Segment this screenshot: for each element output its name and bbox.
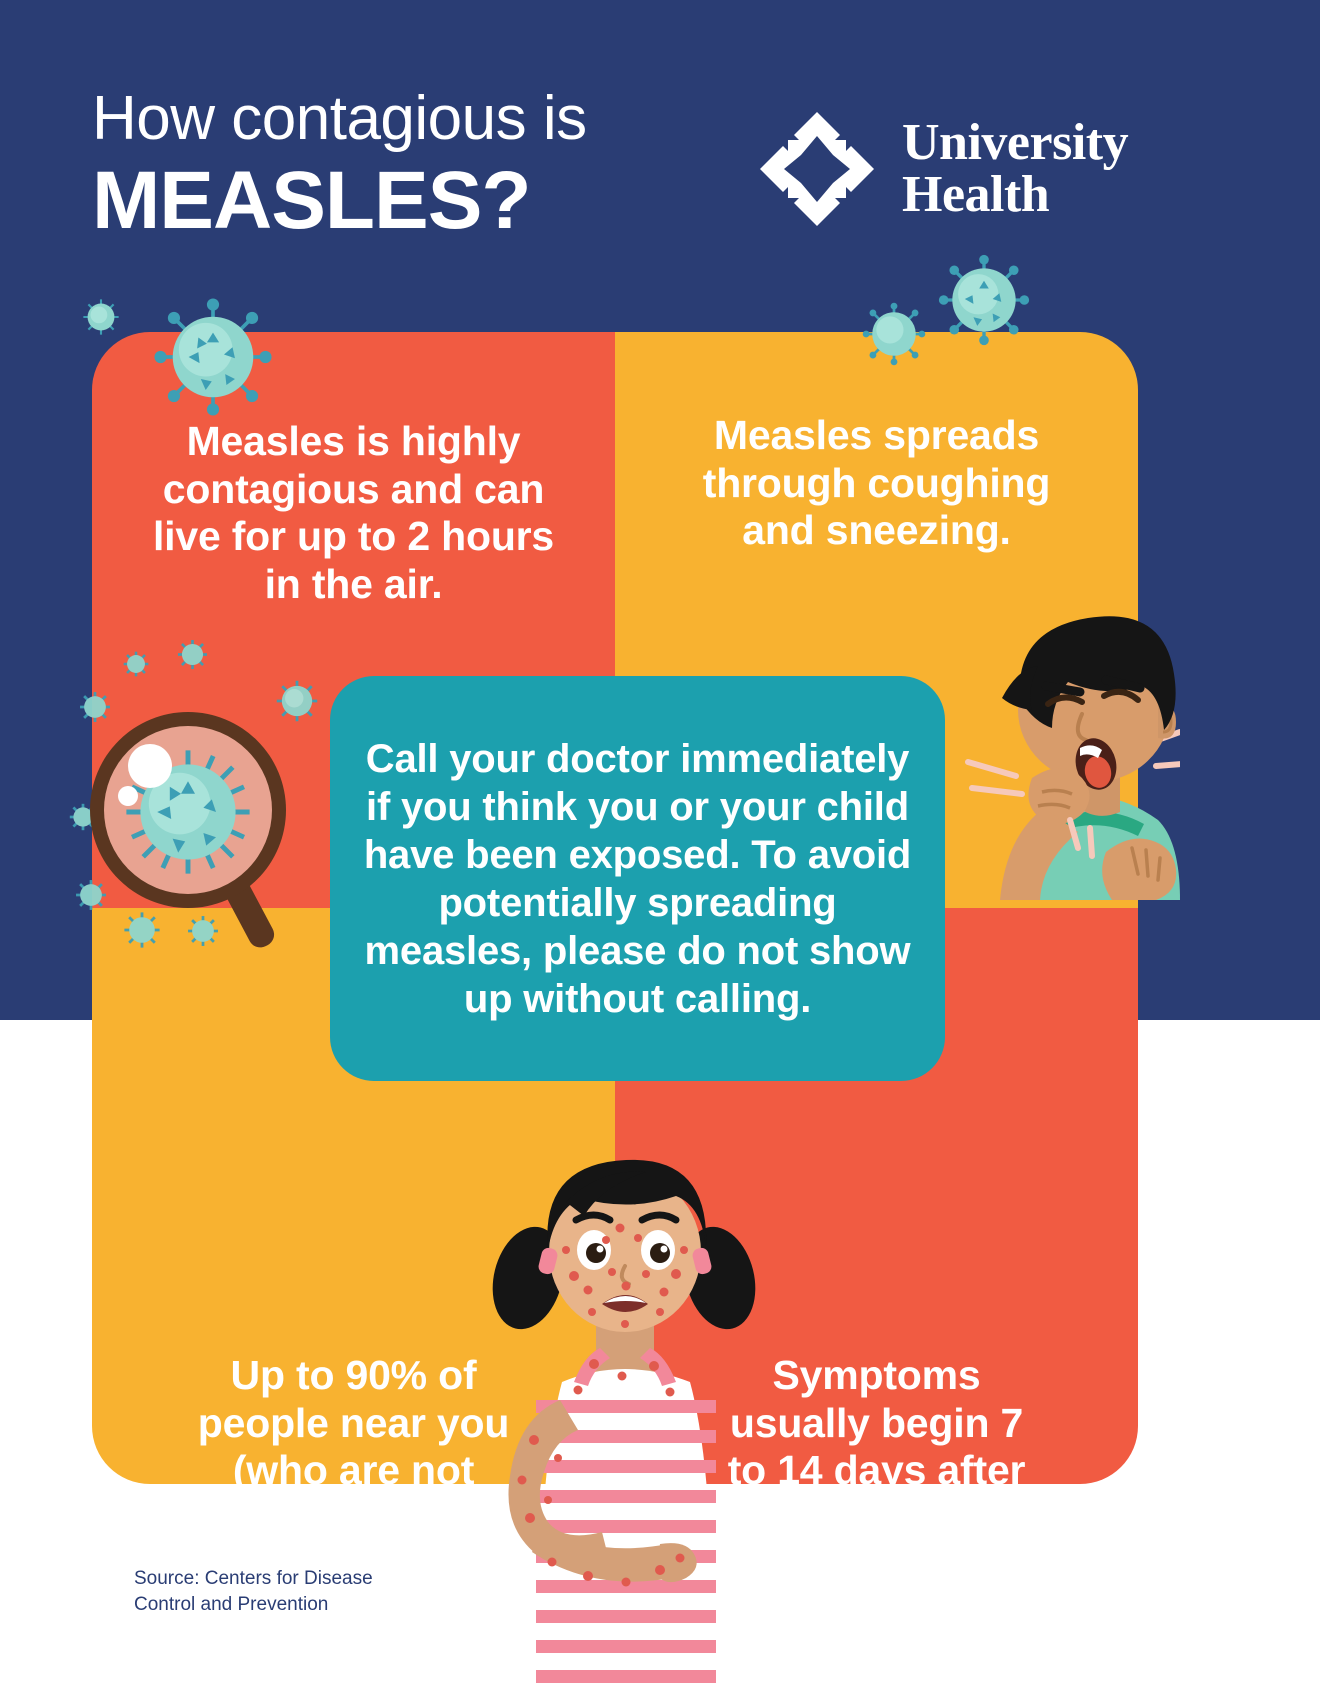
title-line-2: MEASLES?	[92, 158, 732, 244]
infographic-poster: How contagious is MEASLES? Universit	[0, 0, 1320, 1695]
university-health-star-mark	[758, 110, 876, 228]
university-health-logo: University Health	[758, 110, 1128, 228]
source-attribution: Source: Centers for Disease Control and …	[134, 1566, 373, 1617]
callout-text: Call your doctor immediately if you thin…	[330, 735, 945, 1023]
logo-line-2: Health	[902, 169, 1128, 221]
virus-particle-icon	[860, 300, 928, 368]
quadrant-top-right-text: Measles spreads through coughing and sne…	[615, 412, 1138, 555]
logo-wordmark: University Health	[902, 117, 1128, 221]
logo-line-1: University	[902, 117, 1128, 169]
virus-particle-icon	[152, 296, 274, 418]
callout-box: Call your doctor immediately if you thin…	[330, 676, 945, 1081]
magnifying-glass-icon	[60, 630, 350, 960]
virus-particle-icon	[80, 296, 122, 338]
girl-with-rash-illustration	[470, 1100, 780, 1695]
quadrant-top-left-text: Measles is highly contagious and can liv…	[92, 418, 615, 608]
title-line-1: How contagious is	[92, 88, 732, 150]
virus-particle-icon	[936, 252, 1032, 348]
page-title: How contagious is MEASLES?	[92, 88, 732, 244]
